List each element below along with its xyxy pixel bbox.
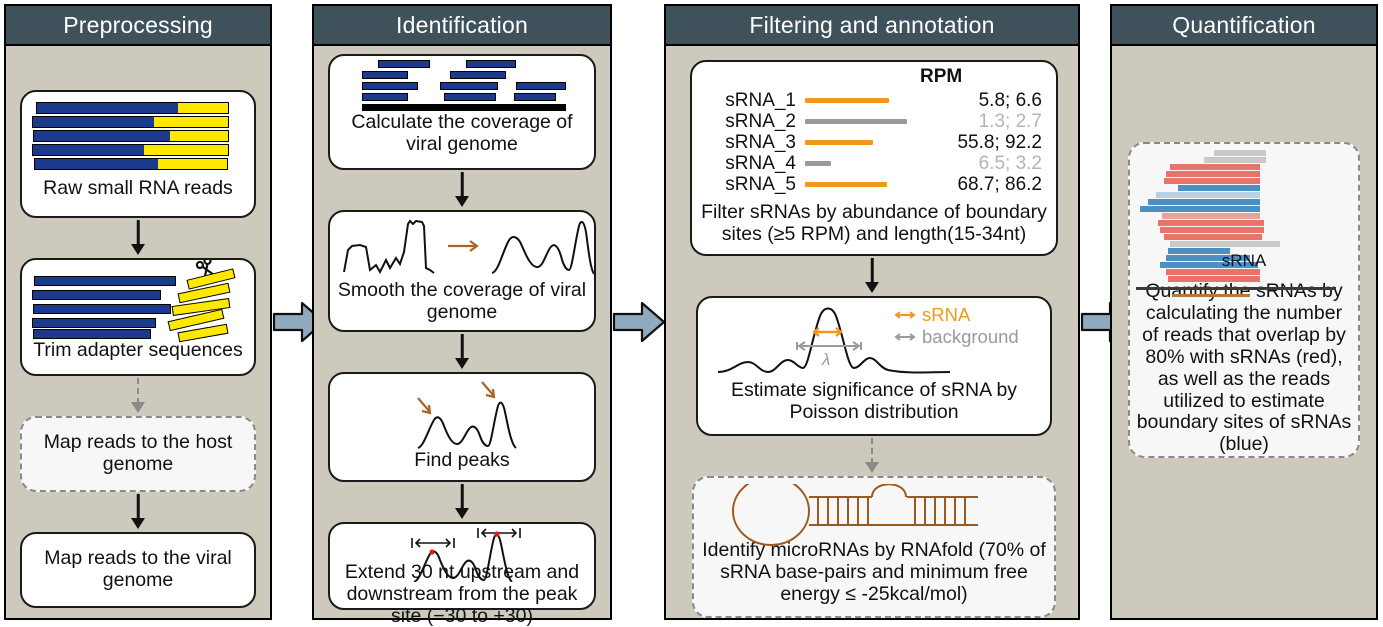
coverage-traces bbox=[330, 212, 594, 280]
panel-body-quantification: sRNA Quantify the sRNAs by calculating t… bbox=[1112, 46, 1376, 622]
panel-body-filtering: RPM sRNA_1 5.8; 6.6 sRNA_2 1.3; 2.7 bbox=[666, 46, 1078, 622]
connector-arrowhead bbox=[455, 196, 469, 207]
srna-line bbox=[805, 119, 907, 124]
step-poisson[interactable]: sRNA background bbox=[696, 296, 1052, 436]
table-row: sRNA_4 6.5; 3.2 bbox=[692, 153, 1056, 174]
pileup-axis-label: sRNA bbox=[1130, 251, 1358, 271]
workflow-diagram: Preprocessing Raw small RNA reads bbox=[0, 0, 1383, 624]
step-calculate-coverage[interactable]: Calculate the coverage of viral genome bbox=[328, 54, 596, 170]
connector-arrowhead bbox=[131, 518, 145, 529]
srna-name: sRNA_5 bbox=[692, 174, 805, 196]
srna-rpm-value: 5.8; 6.6 bbox=[979, 90, 1056, 112]
step-extend-30nt[interactable]: Extend 30 nt upstream and downstream fro… bbox=[328, 522, 596, 610]
connector-line-dashed bbox=[871, 438, 873, 464]
srna-line bbox=[805, 182, 887, 187]
step-label: Map reads to the host genome bbox=[22, 432, 254, 476]
srna-rpm-value: 68.7; 86.2 bbox=[957, 174, 1056, 196]
raw-reads-figure bbox=[22, 92, 254, 176]
step-raw-reads[interactable]: Raw small RNA reads bbox=[20, 90, 256, 218]
trim-adapter-figure bbox=[22, 260, 254, 340]
coverage-figure bbox=[330, 56, 594, 112]
connector-arrowhead bbox=[865, 282, 879, 293]
panel-preprocessing: Preprocessing Raw small RNA reads bbox=[4, 4, 272, 620]
panel-title: Preprocessing bbox=[63, 12, 213, 39]
connector-line bbox=[461, 172, 464, 198]
panel-header-filtering: Filtering and annotation bbox=[666, 6, 1078, 46]
panel-filtering-annotation: Filtering and annotation RPM sRNA_1 5.8;… bbox=[664, 4, 1080, 620]
table-row: sRNA_2 1.3; 2.7 bbox=[692, 111, 1056, 132]
srna-filter-figure: RPM sRNA_1 5.8; 6.6 sRNA_2 1.3; 2.7 bbox=[692, 62, 1056, 202]
step-label: Map reads to the viral genome bbox=[22, 548, 254, 592]
srna-name: sRNA_1 bbox=[692, 90, 805, 112]
step-label: Identify microRNAs by RNAfold (70% of sR… bbox=[692, 540, 1056, 605]
poisson-figure: sRNA background bbox=[698, 298, 1050, 380]
stage-arrow-2 bbox=[612, 300, 666, 344]
step-label: Quantify the sRNAs by calculating the nu… bbox=[1130, 281, 1358, 456]
connector-arrowhead bbox=[455, 508, 469, 519]
connector-line-dashed bbox=[137, 378, 139, 404]
find-peaks-figure bbox=[330, 374, 594, 450]
srna-rpm-value: 1.3; 2.7 bbox=[979, 111, 1056, 133]
peaks-trace bbox=[330, 374, 594, 450]
table-row: sRNA_5 68.7; 86.2 bbox=[692, 174, 1056, 195]
srna-name: sRNA_4 bbox=[692, 153, 805, 175]
connector-line bbox=[137, 220, 140, 246]
lambda-label: λ bbox=[822, 350, 830, 370]
step-find-peaks[interactable]: Find peaks bbox=[328, 372, 596, 482]
srna-line bbox=[805, 98, 889, 103]
read-pileup-figure bbox=[1130, 144, 1358, 233]
poisson-trace bbox=[698, 298, 1050, 380]
step-label: Trim adapter sequences bbox=[27, 340, 249, 362]
step-label: Smooth the coverage of viral genome bbox=[330, 280, 594, 324]
rpm-header: RPM bbox=[920, 66, 962, 88]
table-row: sRNA_3 55.8; 92.2 bbox=[692, 132, 1056, 153]
table-row: sRNA_1 5.8; 6.6 bbox=[692, 90, 1056, 111]
srna-table: sRNA_1 5.8; 6.6 sRNA_2 1.3; 2.7 sRNA_3 bbox=[692, 90, 1056, 195]
panel-header-identification: Identification bbox=[314, 6, 610, 46]
panel-header-preprocessing: Preprocessing bbox=[6, 6, 270, 46]
step-map-host[interactable]: Map reads to the host genome bbox=[20, 416, 256, 492]
panel-title: Filtering and annotation bbox=[749, 12, 994, 39]
step-trim-adapter[interactable]: Trim adapter sequences bbox=[20, 258, 256, 376]
connector-arrowhead bbox=[131, 244, 145, 255]
srna-line bbox=[805, 140, 873, 145]
peak-extend-trace bbox=[330, 526, 594, 582]
panel-title: Quantification bbox=[1172, 12, 1315, 39]
connector-line bbox=[871, 258, 874, 284]
step-label: Calculate the coverage of viral genome bbox=[330, 112, 594, 156]
panel-body-preprocessing: Raw small RNA reads bbox=[6, 46, 270, 622]
smooth-coverage-figure bbox=[330, 212, 594, 280]
panel-body-identification: Calculate the coverage of viral genome bbox=[314, 46, 610, 622]
connector-line bbox=[461, 334, 464, 360]
step-smooth-coverage[interactable]: Smooth the coverage of viral genome bbox=[328, 210, 596, 332]
connector-arrowhead bbox=[865, 462, 879, 473]
connector-arrowhead bbox=[455, 358, 469, 369]
srna-name: sRNA_2 bbox=[692, 111, 805, 133]
srna-line bbox=[805, 161, 831, 166]
step-identify-microrna[interactable]: Identify microRNAs by RNAfold (70% of sR… bbox=[692, 476, 1056, 618]
connector-arrowhead bbox=[131, 402, 145, 413]
srna-rpm-value: 6.5; 3.2 bbox=[979, 153, 1056, 175]
srna-name: sRNA_3 bbox=[692, 132, 805, 154]
panel-title: Identification bbox=[396, 12, 528, 39]
step-label: Filter sRNAs by abundance of boundary si… bbox=[693, 202, 1055, 246]
connector-line bbox=[137, 494, 140, 520]
step-label: Estimate significance of sRNA by Poisson… bbox=[698, 380, 1050, 424]
srna-rpm-value: 55.8; 92.2 bbox=[957, 132, 1056, 154]
step-map-viral[interactable]: Map reads to the viral genome bbox=[20, 532, 256, 608]
panel-identification: Identification Calculate the bbox=[312, 4, 612, 620]
panel-header-quantification: Quantification bbox=[1112, 6, 1376, 46]
panel-quantification: Quantification bbox=[1110, 4, 1378, 620]
step-label: Raw small RNA reads bbox=[37, 178, 239, 200]
step-label: Find peaks bbox=[408, 450, 515, 472]
step-filter-srnas[interactable]: RPM sRNA_1 5.8; 6.6 sRNA_2 1.3; 2.7 bbox=[690, 60, 1058, 256]
rnafold-figure bbox=[694, 478, 1054, 540]
connector-line bbox=[461, 484, 464, 510]
rna-hairpin-icon bbox=[694, 484, 1054, 546]
step-quantify-srnas[interactable]: sRNA Quantify the sRNAs by calculating t… bbox=[1128, 142, 1360, 458]
